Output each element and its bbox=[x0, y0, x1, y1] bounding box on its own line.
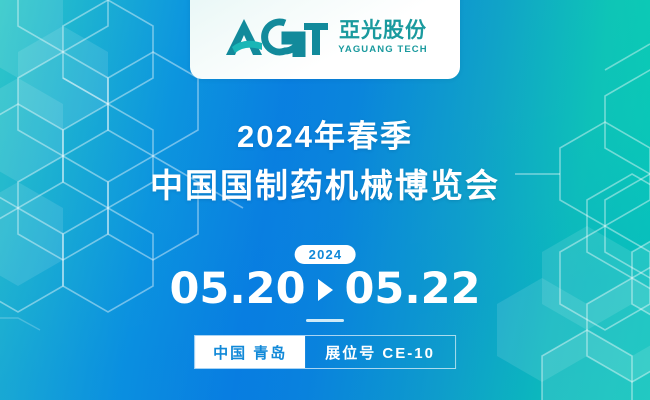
event-title-line-1: 2024年春季 bbox=[0, 118, 650, 157]
title-block: 2024年春季 中国国制药机械博览会 bbox=[0, 118, 650, 206]
footer-info-bar: 中国 青岛 展位号 CE-10 bbox=[194, 335, 456, 369]
event-title-line-2: 中国国制药机械博览会 bbox=[0, 165, 650, 206]
exhibition-banner: 亞光股份 YAGUANG TECH 2024年春季 中国国制药机械博览会 202… bbox=[0, 0, 650, 400]
date-start: 05.20 bbox=[169, 268, 305, 311]
agt-logo-icon bbox=[222, 17, 330, 57]
footer-booth-number: 展位号 CE-10 bbox=[305, 336, 455, 368]
year-badge: 2024 bbox=[295, 245, 356, 264]
logo-company-name-cn: 亞光股份 bbox=[339, 20, 427, 41]
footer-location: 中国 青岛 bbox=[195, 336, 305, 368]
date-range: 05.20 05.22 bbox=[0, 268, 650, 311]
logo-card: 亞光股份 YAGUANG TECH bbox=[190, 0, 460, 79]
date-underline-divider bbox=[306, 319, 344, 322]
date-end: 05.22 bbox=[345, 268, 481, 311]
right-triangle-icon bbox=[318, 279, 333, 301]
logo-company-name-en: YAGUANG TECH bbox=[338, 45, 427, 55]
